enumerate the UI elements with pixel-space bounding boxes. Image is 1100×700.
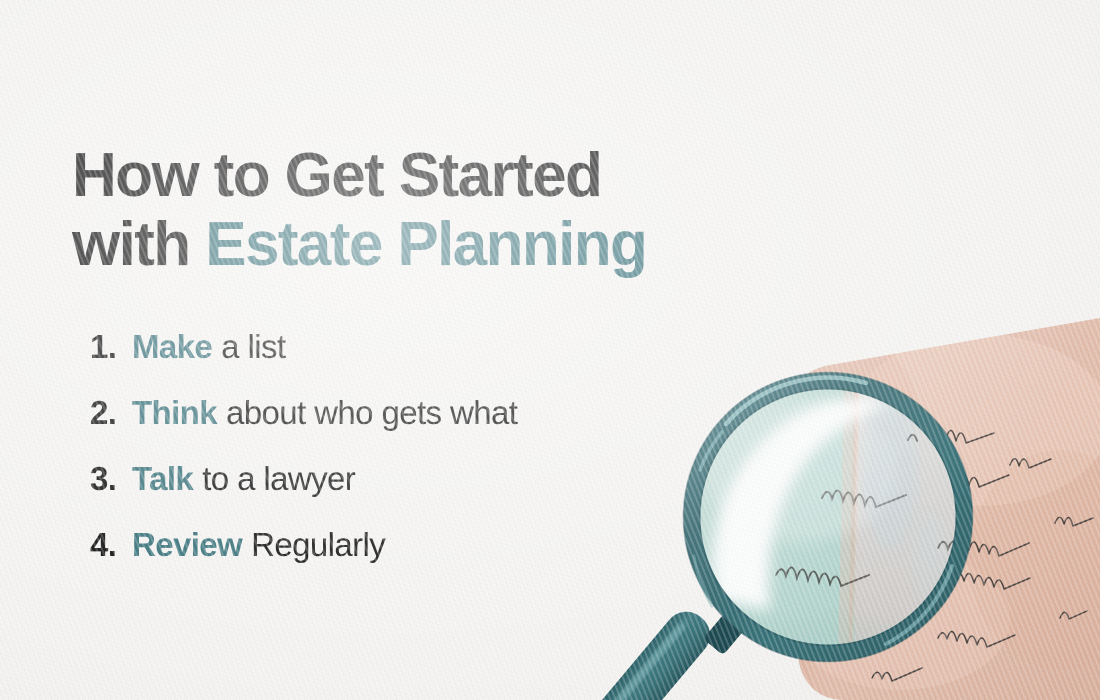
headline-line-2: with Estate Planning	[72, 215, 772, 276]
list-item: 1. Make a list	[90, 328, 517, 394]
headline-block: How to Get Started with Estate Planning	[72, 146, 772, 276]
magnifier-lens	[688, 380, 985, 700]
headline-line-1: How to Get Started	[72, 141, 601, 210]
steps-list: 1. Make a list 2. Think about who gets w…	[90, 328, 517, 592]
step-keyword: Talk	[132, 460, 193, 498]
magnifier-handle	[587, 603, 745, 700]
headline-line-2-plain: with	[72, 210, 205, 279]
step-keyword: Make	[132, 328, 212, 366]
step-keyword: Review	[132, 526, 242, 564]
handwriting-lines	[700, 423, 1093, 681]
page-title: How to Get Started with Estate Planning	[72, 146, 772, 276]
infographic-canvas: How to Get Started with Estate Planning …	[0, 0, 1100, 700]
paper-sheet	[790, 300, 1100, 700]
step-text: a list	[221, 328, 285, 366]
step-text: about who gets what	[226, 394, 517, 432]
step-text: Regularly	[251, 526, 385, 564]
headline-line-2-accent: Estate Planning	[205, 210, 646, 279]
list-item: 4. Review Regularly	[90, 526, 517, 592]
step-number: 1.	[90, 328, 132, 366]
step-number: 2.	[90, 394, 132, 432]
magnifier-rim	[684, 373, 973, 662]
step-keyword: Think	[132, 394, 217, 432]
step-number: 4.	[90, 526, 132, 564]
step-text: to a lawyer	[202, 460, 355, 498]
list-item: 2. Think about who gets what	[90, 394, 517, 460]
step-number: 3.	[90, 460, 132, 498]
list-item: 3. Talk to a lawyer	[90, 460, 517, 526]
